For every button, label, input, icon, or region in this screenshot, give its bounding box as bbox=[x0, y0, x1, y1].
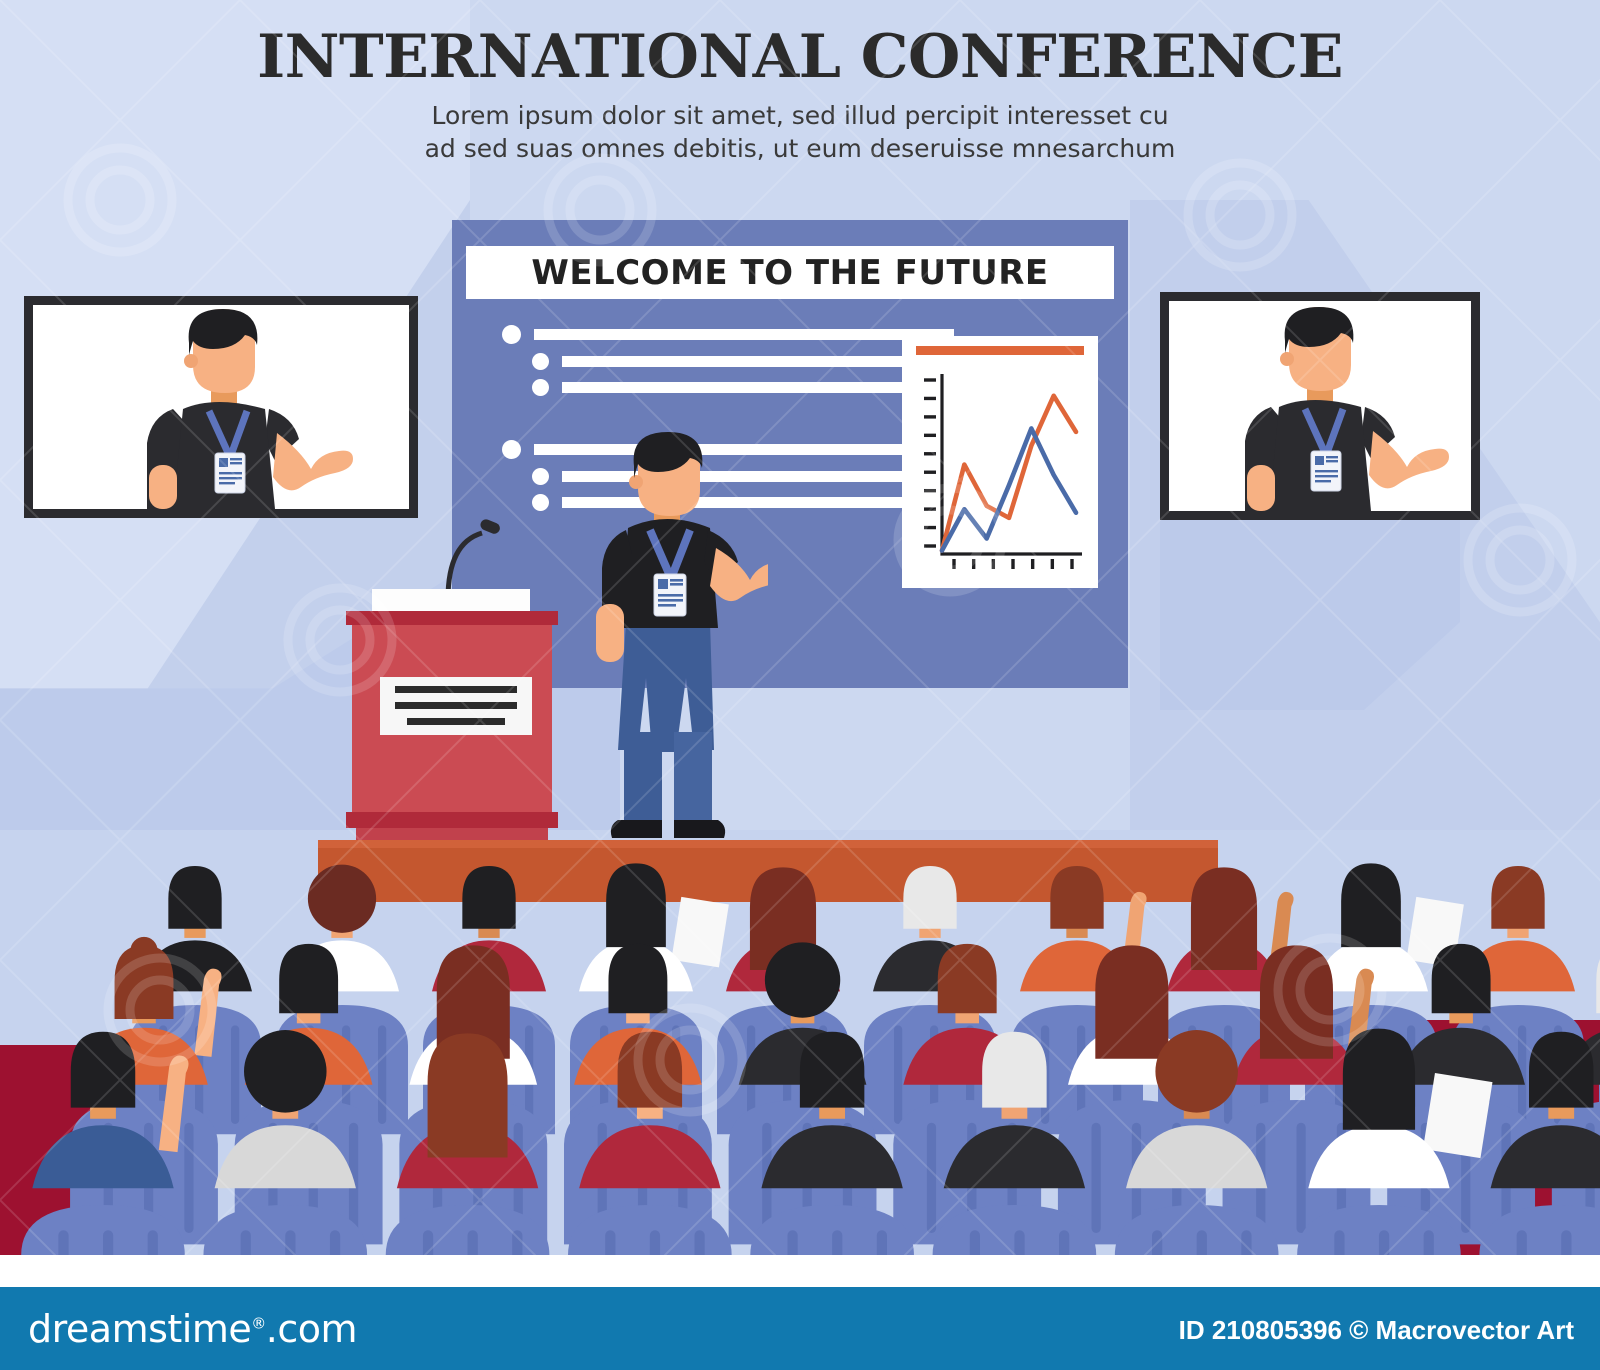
tv-screen-right bbox=[1160, 292, 1480, 520]
podium-note-line bbox=[395, 686, 517, 693]
stage-speaker-figure bbox=[568, 432, 768, 852]
seat-rib bbox=[231, 1025, 239, 1124]
tv-display-right bbox=[1169, 301, 1471, 511]
page-subtitle: Lorem ipsum dolor sit amet, sed illud pe… bbox=[0, 99, 1600, 165]
seat-rib bbox=[1092, 1123, 1101, 1233]
person-hair bbox=[938, 944, 997, 1013]
person-hair bbox=[1260, 945, 1333, 1058]
slide-title-band: WELCOME TO THE FUTURE bbox=[466, 246, 1114, 299]
podium-desk-top bbox=[346, 611, 558, 625]
dreamstime-brand: dreamstime bbox=[28, 1307, 251, 1351]
person-hair bbox=[244, 1030, 327, 1113]
podium-paper bbox=[372, 589, 530, 613]
registered-mark-icon: ® bbox=[251, 1314, 266, 1332]
podium-note-line bbox=[395, 702, 517, 709]
audience-row bbox=[21, 1029, 1600, 1287]
person-hair bbox=[800, 1032, 864, 1108]
dreamstime-tld: .com bbox=[266, 1307, 357, 1351]
audience-group bbox=[0, 800, 1600, 1287]
person-hair bbox=[618, 1032, 682, 1108]
subtitle-line-2: ad sed suas omnes debitis, ut eum deseru… bbox=[0, 132, 1600, 165]
person-hair bbox=[608, 944, 667, 1013]
slide-title: WELCOME TO THE FUTURE bbox=[531, 253, 1048, 293]
person-hair bbox=[1191, 867, 1257, 970]
person-hair bbox=[279, 944, 338, 1013]
person-hair bbox=[1341, 863, 1401, 947]
bullet-text-placeholder bbox=[562, 382, 902, 393]
broadcast-speaker-figure-left bbox=[33, 305, 409, 509]
bullet-dot-icon bbox=[532, 494, 549, 511]
person-hair bbox=[308, 865, 376, 933]
podium-notes bbox=[380, 677, 532, 735]
illustration-canvas: INTERNATIONAL CONFERENCE Lorem ipsum dol… bbox=[0, 0, 1600, 1370]
person-hair bbox=[1343, 1029, 1415, 1130]
person-hair bbox=[115, 945, 174, 1019]
slide-line-chart bbox=[902, 336, 1098, 588]
chart-header-band bbox=[916, 346, 1084, 355]
person-hair bbox=[1596, 944, 1600, 1013]
bullet-dot-icon bbox=[502, 440, 521, 459]
person-hair bbox=[982, 1032, 1046, 1108]
seat-rib bbox=[894, 1025, 902, 1124]
watermark-footer: dreamstime®.com ID 210805396 © Macrovect… bbox=[0, 1287, 1600, 1370]
handout-paper bbox=[671, 897, 729, 967]
person-hair bbox=[71, 1032, 135, 1108]
floor-front-strip bbox=[0, 1255, 1600, 1287]
stage-speaker-svg bbox=[568, 432, 768, 852]
seat-rib bbox=[1296, 1123, 1305, 1233]
person-hair bbox=[606, 863, 666, 947]
bullet-dot-icon bbox=[532, 353, 549, 370]
tv-screen-left bbox=[24, 296, 418, 518]
page-title: INTERNATIONAL CONFERENCE bbox=[0, 26, 1600, 89]
person-hair bbox=[428, 1033, 508, 1157]
person-hair bbox=[1095, 945, 1168, 1058]
person-hair bbox=[1432, 944, 1491, 1013]
poster-heading: INTERNATIONAL CONFERENCE Lorem ipsum dol… bbox=[0, 26, 1600, 165]
seat-rib bbox=[184, 1123, 193, 1233]
person-hair bbox=[462, 866, 515, 929]
bullet-text-placeholder bbox=[534, 329, 954, 340]
podium-body bbox=[352, 625, 552, 812]
dreamstime-logo: dreamstime®.com bbox=[28, 1307, 357, 1351]
bullet-dot-icon bbox=[532, 468, 549, 485]
seat-rib bbox=[378, 1025, 386, 1124]
broadcast-speaker-figure-right bbox=[1169, 301, 1471, 511]
bullet-dot-icon bbox=[532, 379, 549, 396]
podium-note-line bbox=[407, 718, 505, 725]
person-hair bbox=[168, 866, 221, 929]
person-hair bbox=[1529, 1032, 1593, 1108]
person-hair bbox=[765, 942, 840, 1017]
person-hair bbox=[903, 866, 956, 929]
chart-svg bbox=[916, 366, 1086, 578]
bullet-dot-icon bbox=[502, 325, 521, 344]
subtitle-line-1: Lorem ipsum dolor sit amet, sed illud pe… bbox=[0, 99, 1600, 132]
handout-paper bbox=[1423, 1073, 1493, 1158]
person-hair bbox=[1491, 866, 1544, 929]
image-credit: ID 210805396 © Macrovector Art bbox=[1179, 1315, 1574, 1346]
person-hair bbox=[1050, 866, 1103, 929]
audience-svg bbox=[0, 800, 1600, 1287]
tv-display-left bbox=[33, 305, 409, 509]
chart-plot-area bbox=[916, 366, 1086, 578]
seat-rib bbox=[927, 1123, 936, 1233]
person-hair bbox=[1155, 1030, 1238, 1113]
